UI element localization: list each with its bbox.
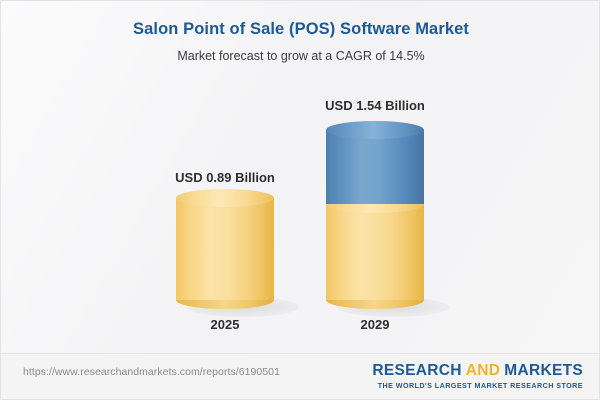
bar-category-label-2029: 2029: [265, 317, 485, 332]
cylinder-2025: [176, 189, 274, 317]
logo-word-markets: MARKETS: [504, 362, 583, 379]
plot-area: USD 0.89 Billion 2025 USD 1.54 Billion: [1, 1, 600, 353]
logo-wordmark: RESEARCHANDMARKETS: [372, 362, 583, 379]
cylinder-growth-body-2029: [326, 130, 424, 204]
cylinder-2029: [326, 121, 424, 317]
source-url[interactable]: https://www.researchandmarkets.com/repor…: [23, 366, 280, 378]
research-and-markets-logo[interactable]: RESEARCHANDMARKETS THE WORLD'S LARGEST M…: [372, 362, 583, 390]
logo-word-and: AND: [466, 362, 500, 379]
cylinder-base-body-2029: [326, 204, 424, 300]
logo-tagline: THE WORLD'S LARGEST MARKET RESEARCH STOR…: [372, 381, 583, 390]
bar-value-label-2029: USD 1.54 Billion: [265, 98, 485, 113]
chart-footer: https://www.researchandmarkets.com/repor…: [1, 354, 600, 400]
cylinder-growth-top-cap-2029: [326, 121, 424, 139]
cylinder-body-2025: [176, 198, 274, 300]
logo-word-research: RESEARCH: [372, 362, 461, 379]
bar-value-label-2025: USD 0.89 Billion: [115, 170, 335, 185]
cylinder-top-cap-2025: [176, 189, 274, 207]
chart-canvas: Salon Point of Sale (POS) Software Marke…: [0, 0, 600, 400]
